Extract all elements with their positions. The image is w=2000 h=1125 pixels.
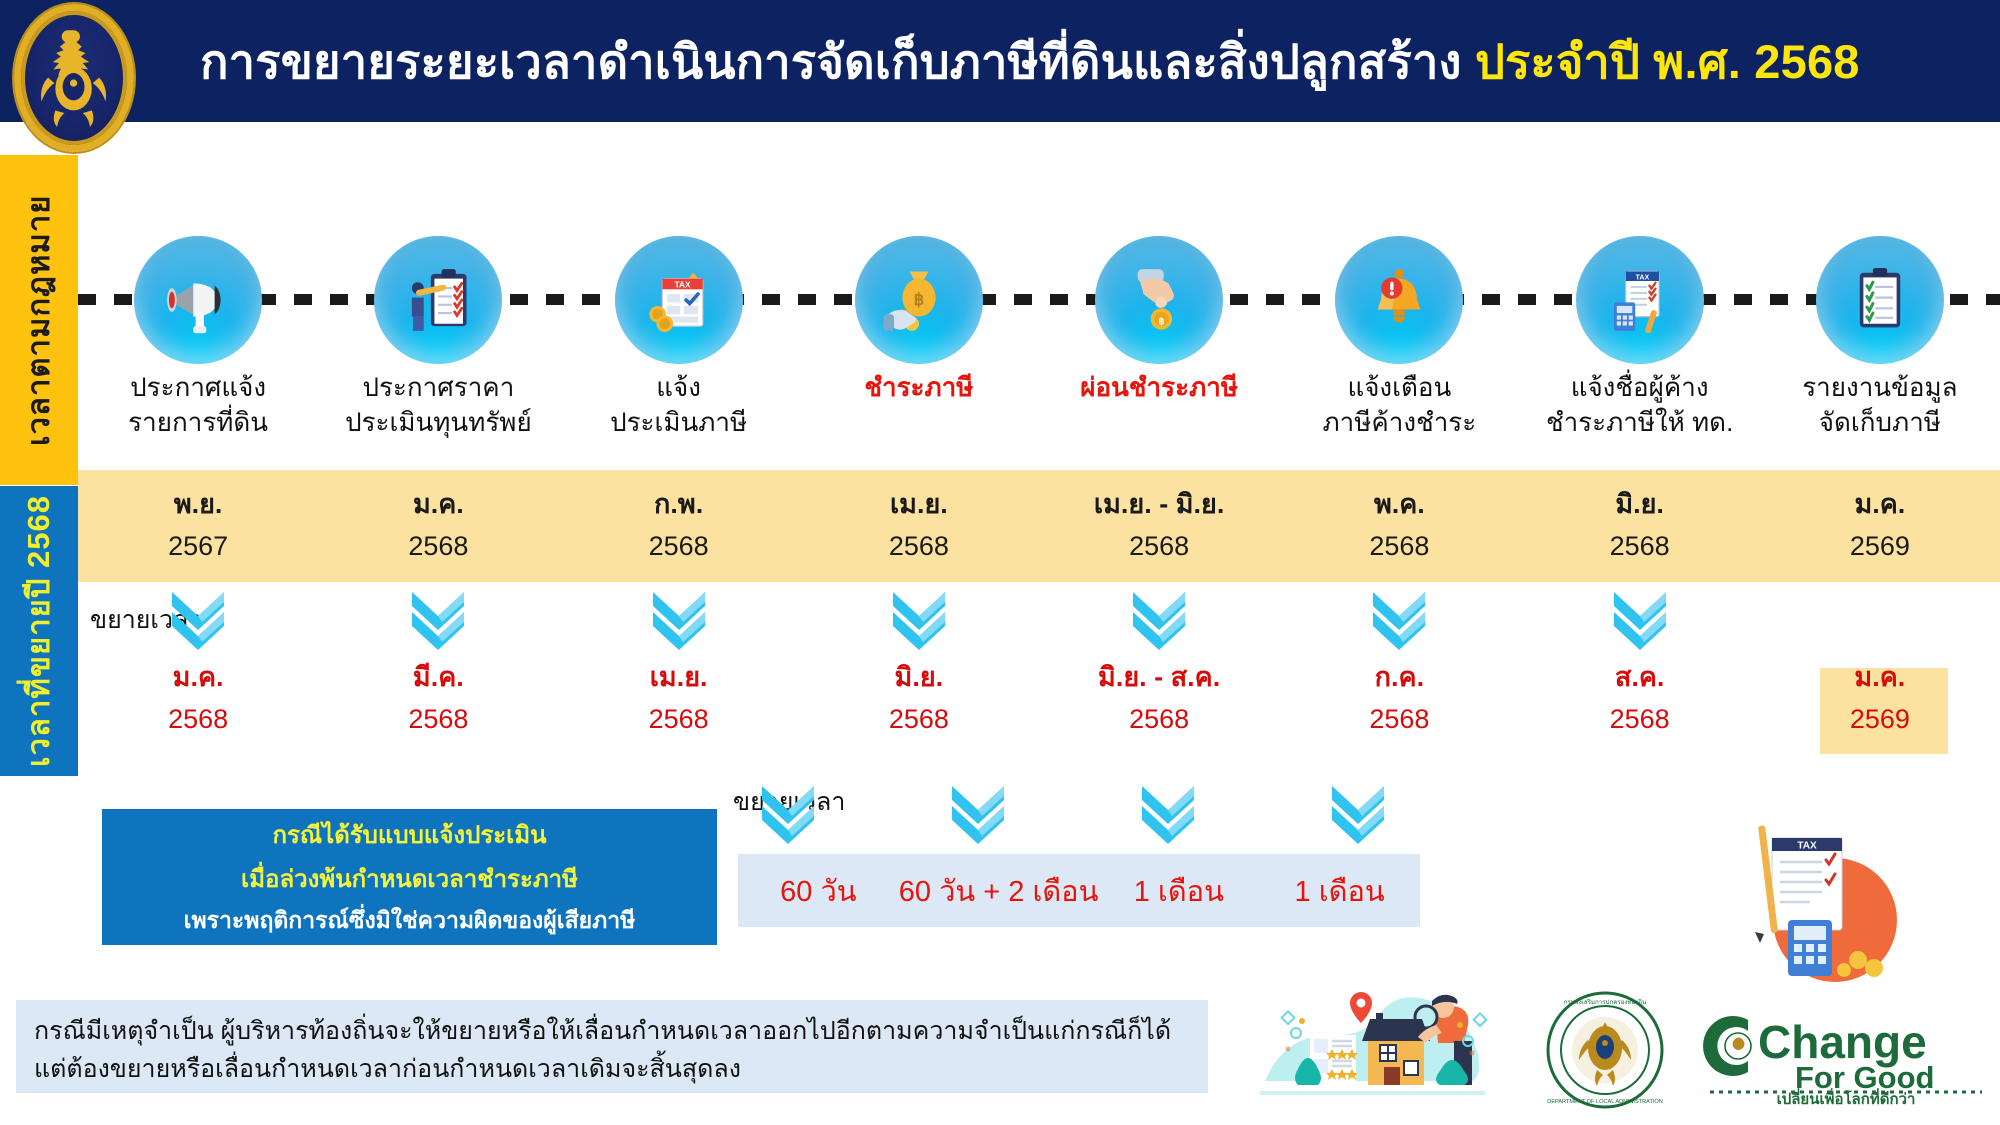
extension-date-7: ส.ค. 2568: [1610, 657, 1670, 741]
timeline-node-2[interactable]: [318, 155, 558, 370]
extension-date-2-month: มี.ค.: [408, 657, 468, 699]
extension-date-2: มี.ค. 2568: [408, 657, 468, 741]
rail-legal-time: เวลาตามกฎหมาย: [0, 155, 78, 485]
extension-cell-3: เม.ย. 2568: [559, 582, 799, 752]
timeline-node-5[interactable]: ฿: [1039, 155, 1279, 370]
step-label-8-line2: จัดเก็บภาษี: [1766, 405, 1994, 440]
step-label-6-line1: แจ้งเตือน: [1285, 370, 1513, 405]
extension-date-7-month: ส.ค.: [1610, 657, 1670, 699]
extension-date-row: ม.ค. 2568 มี.ค. 2568: [78, 582, 2000, 752]
legal-date-1-month: พ.ย.: [78, 484, 318, 526]
note-box: กรณีได้รับแบบแจ้งประเมิน เมื่อล่วงพ้นกำห…: [102, 809, 717, 945]
duration-4: 1 เดือน: [1259, 868, 1420, 914]
legal-date-3: ก.พ. 2568: [559, 484, 799, 568]
extension-date-1-month: ม.ค.: [168, 657, 228, 699]
extension-date-1: ม.ค. 2568: [168, 657, 228, 741]
legal-date-4: เม.ย. 2568: [799, 484, 1039, 568]
step-label-7-line2: ชำระภาษีให้ ทด.: [1526, 405, 1754, 440]
step-label-7-line1: แจ้งชื่อผู้ค้าง: [1526, 370, 1754, 405]
double-chevron-down-icon: [1136, 782, 1200, 844]
extension-cell-4: มิ.ย. 2568: [799, 582, 1039, 752]
footer-note-line1: กรณีมีเหตุจำเป็น ผู้บริหารท้องถิ่นจะให้ข…: [34, 1013, 1190, 1051]
extension-date-5: มิ.ย. - ส.ค. 2568: [1098, 657, 1220, 741]
extension-cell-5: มิ.ย. - ส.ค. 2568: [1039, 582, 1279, 752]
note-box-line2: เมื่อล่วงพ้นกำหนดเวลาชำระภาษี: [241, 859, 578, 898]
extension-date-4-month: มิ.ย.: [889, 657, 949, 699]
megaphone-icon: [134, 236, 262, 364]
legal-date-6-month: พ.ค.: [1279, 484, 1519, 526]
double-chevron-down-icon: [887, 588, 951, 650]
page-title-highlight: ประจำปี พ.ศ. 2568: [1475, 35, 1860, 88]
double-chevron-down-icon: [946, 782, 1010, 844]
duration-1: 60 วัน: [738, 868, 899, 914]
legal-date-4-year: 2568: [799, 526, 1039, 568]
change-for-good-line2: For Good: [1795, 1060, 1934, 1095]
extension-date-8: ม.ค. 2569: [1850, 657, 1910, 741]
step-label-1: ประกาศแจ้ง รายการที่ดิน: [78, 370, 318, 465]
legal-date-5: เม.ย. - มิ.ย. 2568: [1039, 484, 1279, 568]
legal-date-6: พ.ค. 2568: [1279, 484, 1519, 568]
step-label-5-line1: ผ่อนชำระภาษี: [1045, 370, 1273, 405]
legal-date-8-month: ม.ค.: [1760, 484, 2000, 526]
step-label-1-line2: รายการที่ดิน: [84, 405, 312, 440]
legal-date-8-year: 2569: [1760, 526, 2000, 568]
extension-date-3-month: เม.ย.: [649, 657, 709, 699]
step-label-1-line1: ประกาศแจ้ง: [84, 370, 312, 405]
timeline-node-3[interactable]: TAX: [559, 155, 799, 370]
extension-date-5-month: มิ.ย. - ส.ค.: [1098, 657, 1220, 699]
page-title-main: การขยายระยะเวลาดำเนินการจัดเก็บภาษีที่ดิ…: [200, 35, 1462, 88]
duration-3: 1 เดือน: [1098, 868, 1259, 914]
rail-extended-time: เวลาที่ขยายปี 2568: [0, 486, 78, 776]
legal-date-4-month: เม.ย.: [799, 484, 1039, 526]
footer-note: กรณีมีเหตุจำเป็น ผู้บริหารท้องถิ่นจะให้ข…: [16, 1000, 1208, 1093]
legal-date-2-month: ม.ค.: [318, 484, 558, 526]
legal-date-5-month: เม.ย. - มิ.ย.: [1039, 484, 1279, 526]
step-label-8: รายงานข้อมูล จัดเก็บภาษี: [1760, 370, 2000, 465]
extension-date-7-year: 2568: [1610, 699, 1670, 741]
rail-extended-time-label: เวลาที่ขยายปี 2568: [14, 495, 64, 767]
change-for-good-logo: Change For Good เปลี่ยนเพื่อโลกที่ดีกว่า: [1700, 1000, 1990, 1105]
note-box-line3: เพราะพฤติการณ์ซึ่งมิใช่ความผิดของผู้เสีย…: [184, 903, 636, 939]
double-chevron-down-icon: [406, 588, 470, 650]
svg-text:TAX: TAX: [1797, 841, 1817, 852]
double-chevron-down-icon: [647, 588, 711, 650]
legal-date-8: ม.ค. 2569: [1760, 484, 2000, 568]
timeline-node-1[interactable]: [78, 155, 318, 370]
rail-legal-time-label: เวลาตามกฎหมาย: [14, 194, 64, 445]
step-label-3-line2: ประเมินภาษี: [565, 405, 793, 440]
footer-note-line2: แต่ต้องขยายหรือเลื่อนกำหนดเวลาก่อนกำหนดเ…: [34, 1051, 1190, 1089]
clipboard-person-icon: [374, 236, 502, 364]
extension-date-6-year: 2568: [1369, 699, 1429, 741]
extension-date-2-year: 2568: [408, 699, 468, 741]
extension-date-4: มิ.ย. 2568: [889, 657, 949, 741]
legal-date-6-year: 2568: [1279, 526, 1519, 568]
page-title: การขยายระยะเวลาดำเนินการจัดเก็บภาษีที่ดิ…: [200, 38, 1860, 85]
tax-documents-illustration: TAX: [1700, 820, 1930, 995]
money-bag-hand-icon: ฿: [855, 236, 983, 364]
extension-cell-8: ม.ค. 2569: [1760, 582, 2000, 752]
extension-date-4-year: 2568: [889, 699, 949, 741]
legal-date-band: พ.ย. 2567 ม.ค. 2568 ก.พ. 2568 เม.ย. 2568…: [78, 470, 2000, 582]
step-label-2: ประกาศราคา ประเมินทุนทรัพย์: [318, 370, 558, 465]
legal-date-7-month: มิ.ย.: [1520, 484, 1760, 526]
legal-date-3-month: ก.พ.: [559, 484, 799, 526]
step-label-6-line2: ภาษีค้างชำระ: [1285, 405, 1513, 440]
double-chevron-down-icon: [1326, 782, 1390, 844]
house-inspection-illustration: [1240, 985, 1505, 1110]
legal-date-2-year: 2568: [318, 526, 558, 568]
tax-form-icon: TAX: [615, 236, 743, 364]
legal-date-7-year: 2568: [1520, 526, 1760, 568]
extension-date-3-year: 2568: [649, 699, 709, 741]
duration-strip: 60 วัน 60 วัน + 2 เดือน 1 เดือน 1 เดือน: [738, 854, 1420, 927]
department-of-local-administration-seal: กรมส่งเสริมการปกครองท้องถิ่น DEPARTMENT …: [1545, 990, 1665, 1110]
legal-date-1-year: 2567: [78, 526, 318, 568]
change-for-good-tagline: เปลี่ยนเพื่อโลกที่ดีกว่า: [1777, 1088, 1916, 1105]
step-label-3: แจ้ง ประเมินภาษี: [559, 370, 799, 465]
step-label-5: ผ่อนชำระภาษี: [1039, 370, 1279, 465]
timeline-node-6[interactable]: [1279, 155, 1519, 370]
step-label-4-line1: ชำระภาษี: [805, 370, 1033, 405]
bell-alert-icon: [1335, 236, 1463, 364]
checklist-icon: [1816, 236, 1944, 364]
tax-calculator-icon: TAX: [1576, 236, 1704, 364]
step-label-3-line1: แจ้ง: [565, 370, 793, 405]
svg-text:กรมส่งเสริมการปกครองท้องถิ่น: กรมส่งเสริมการปกครองท้องถิ่น: [1564, 998, 1647, 1006]
legal-date-3-year: 2568: [559, 526, 799, 568]
duration-2: 60 วัน + 2 เดือน: [899, 868, 1099, 914]
extension-date-1-year: 2568: [168, 699, 228, 741]
legal-date-2: ม.ค. 2568: [318, 484, 558, 568]
svg-text:฿: ฿: [914, 290, 925, 309]
step-label-8-line1: รายงานข้อมูล: [1766, 370, 1994, 405]
timeline-node-7[interactable]: TAX: [1520, 155, 1760, 370]
svg-text:TAX: TAX: [674, 280, 690, 290]
step-label-7: แจ้งชื่อผู้ค้าง ชำระภาษีให้ ทด.: [1520, 370, 1760, 465]
legal-date-7: มิ.ย. 2568: [1520, 484, 1760, 568]
extension-cell-2: มี.ค. 2568: [318, 582, 558, 752]
legal-date-1: พ.ย. 2567: [78, 484, 318, 568]
svg-text:TAX: TAX: [1635, 273, 1649, 281]
timeline-node-8[interactable]: [1760, 155, 2000, 370]
note-box-line1: กรณีได้รับแบบแจ้งประเมิน: [272, 815, 546, 854]
extension-cell-1: ม.ค. 2568: [78, 582, 318, 752]
step-label-2-line2: ประเมินทุนทรัพย์: [324, 405, 552, 440]
garuda-seal-icon: [14, 4, 134, 152]
extension-cell-7: ส.ค. 2568: [1520, 582, 1760, 752]
step-labels: ประกาศแจ้ง รายการที่ดิน ประกาศราคา ประเม…: [78, 370, 2000, 465]
extension-date-6-month: ก.ค.: [1369, 657, 1429, 699]
double-chevron-down-icon: [166, 588, 230, 650]
extension-date-6: ก.ค. 2568: [1369, 657, 1429, 741]
timeline: TAX: [78, 155, 2000, 370]
extension-date-8-month: ม.ค.: [1850, 657, 1910, 699]
page-header: การขยายระยะเวลาดำเนินการจัดเก็บภาษีที่ดิ…: [0, 0, 2000, 122]
double-chevron-down-icon: [1608, 588, 1672, 650]
coin-hand-icon: ฿: [1095, 236, 1223, 364]
duration-row: 60 วัน 60 วัน + 2 เดือน 1 เดือน 1 เดือน: [693, 782, 1453, 982]
extension-date-3: เม.ย. 2568: [649, 657, 709, 741]
step-label-6: แจ้งเตือน ภาษีค้างชำระ: [1279, 370, 1519, 465]
extension-date-8-year: 2569: [1850, 699, 1910, 741]
double-chevron-down-icon: [1367, 588, 1431, 650]
step-label-2-line1: ประกาศราคา: [324, 370, 552, 405]
legal-date-5-year: 2568: [1039, 526, 1279, 568]
double-chevron-down-icon: [756, 782, 820, 844]
svg-text:DEPARTMENT OF LOCAL ADMINISTRA: DEPARTMENT OF LOCAL ADMINISTRATION: [1547, 1099, 1663, 1105]
timeline-node-4[interactable]: ฿: [799, 155, 1039, 370]
svg-text:฿: ฿: [1158, 316, 1164, 327]
double-chevron-down-icon: [1127, 588, 1191, 650]
extension-date-5-year: 2568: [1098, 699, 1220, 741]
step-label-4: ชำระภาษี: [799, 370, 1039, 465]
extension-cell-6: ก.ค. 2568: [1279, 582, 1519, 752]
